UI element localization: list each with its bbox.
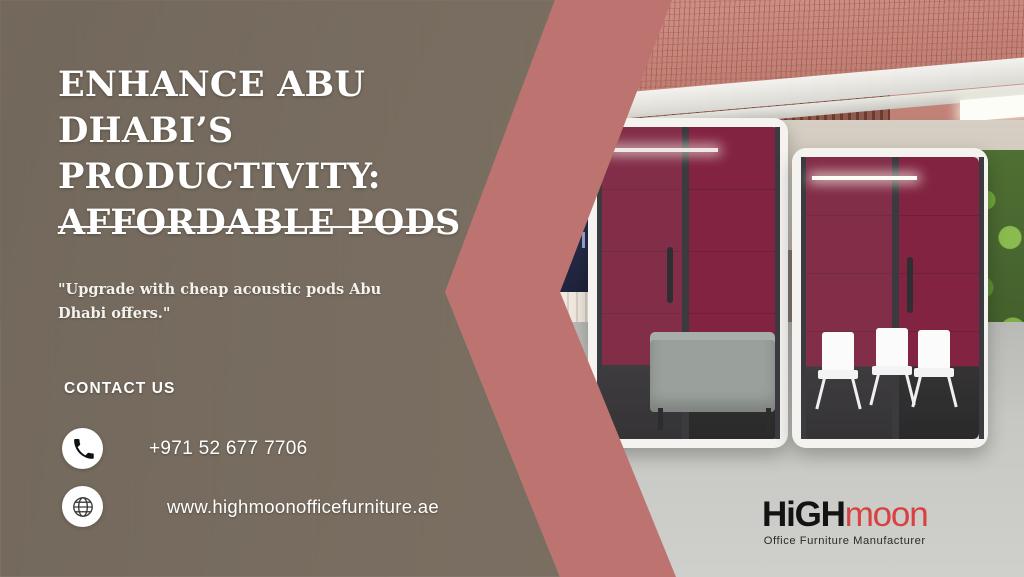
folding-chair (872, 328, 912, 406)
tagline-quote: "Upgrade with cheap acoustic pods Abu Dh… (58, 278, 428, 326)
logo-wordmark: HiGHmoon (762, 497, 927, 532)
contact-row-website[interactable]: www.highmoonofficefurniture.ae (62, 486, 439, 527)
page-title: ENHANCE ABU DHABI’S PRODUCTIVITY: AFFORD… (58, 62, 478, 246)
website-url: www.highmoonofficefurniture.ae (167, 496, 439, 518)
folding-chair-3 (818, 332, 858, 410)
phone-icon (62, 428, 103, 469)
pod-sofa (650, 340, 775, 412)
contact-row-phone[interactable]: +971 52 677 7706 (62, 428, 308, 469)
title-divider (58, 226, 444, 228)
globe-icon (62, 486, 103, 527)
folding-chair-2 (914, 330, 954, 408)
highmoon-logo: HiGHmoon Office Furniture Manufacturer (762, 497, 927, 547)
marketing-banner: ENHANCE ABU DHABI’S PRODUCTIVITY: AFFORD… (0, 0, 1024, 577)
logo-tagline: Office Furniture Manufacturer (762, 536, 927, 547)
logo-text-moon: moon (845, 495, 928, 534)
logo-text-high: HiGH (762, 495, 845, 534)
phone-number: +971 52 677 7706 (149, 438, 308, 460)
contact-us-label: CONTACT US (64, 380, 175, 398)
